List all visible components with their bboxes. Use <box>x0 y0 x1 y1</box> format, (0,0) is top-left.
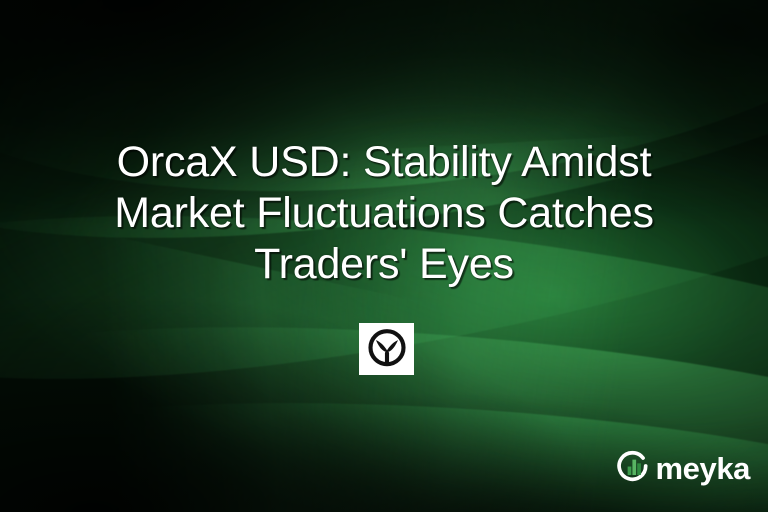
orcax-whale-tail-icon <box>365 327 409 371</box>
orcax-logo-tile <box>359 323 414 375</box>
wave-streak-6 <box>0 371 768 512</box>
meyka-brand-logo[interactable]: meyka <box>617 449 750 488</box>
headline-title: OrcaX USD: Stability Amidst Market Fluct… <box>0 137 768 290</box>
meyka-wordmark: meyka <box>655 453 750 484</box>
social-share-card: OrcaX USD: Stability Amidst Market Fluct… <box>0 0 768 512</box>
meyka-ring-bars-icon <box>617 449 651 488</box>
